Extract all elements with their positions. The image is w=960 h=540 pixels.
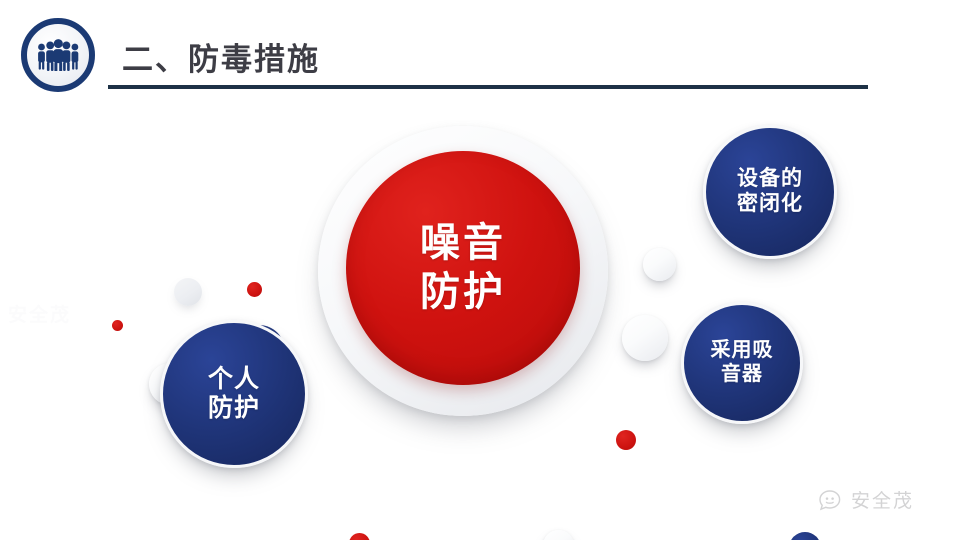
bubble-personal-protection[interactable]: 个人 防护 — [160, 320, 308, 468]
page-title: 二、防毒措施 — [122, 34, 320, 79]
watermark-brand-text: 安全茂 — [851, 486, 914, 513]
center-node-noise-protection[interactable]: 噪音 防护 — [346, 151, 580, 385]
watermark-left: 安全茂 — [8, 300, 71, 327]
navy-dot-bottom-right-icon — [789, 532, 821, 540]
white-dot-upper-left-icon — [174, 278, 202, 306]
white-dot-right-mid-icon — [622, 315, 668, 361]
bubble-sound-absorber-label: 采用吸 音器 — [711, 339, 774, 386]
slide-header: 二、防毒措施 — [0, 0, 960, 108]
watermark-brand: 安全茂 — [816, 486, 914, 513]
chat-smiley-icon — [816, 488, 844, 512]
header-divider — [108, 85, 868, 89]
group-of-people-icon — [21, 18, 95, 92]
slide-canvas: 二、防毒措施 噪音 防护 个人 防护 设备的 密闭化 — [0, 0, 960, 540]
center-node-ring: 噪音 防护 — [318, 126, 608, 416]
red-dot-small-left-icon — [112, 320, 123, 331]
white-dot-bottom-icon — [543, 530, 574, 540]
red-dot-right-icon — [616, 430, 636, 450]
bubble-equipment-sealing[interactable]: 设备的 密闭化 — [703, 125, 837, 259]
white-dot-right-top-icon — [643, 248, 676, 281]
center-node-label: 噪音 防护 — [420, 219, 506, 317]
group-of-people-glyph — [35, 39, 81, 71]
bubble-equipment-sealing-label: 设备的 密闭化 — [737, 167, 803, 217]
red-dot-upper-icon — [247, 282, 262, 297]
bubble-personal-protection-label: 个人 防护 — [208, 365, 260, 424]
diagram-stage: 噪音 防护 个人 防护 设备的 密闭化 采用吸 音器 安全茂 安全茂 — [0, 108, 960, 540]
red-dot-lower-center-icon — [349, 533, 370, 540]
bubble-sound-absorber[interactable]: 采用吸 音器 — [681, 302, 803, 424]
